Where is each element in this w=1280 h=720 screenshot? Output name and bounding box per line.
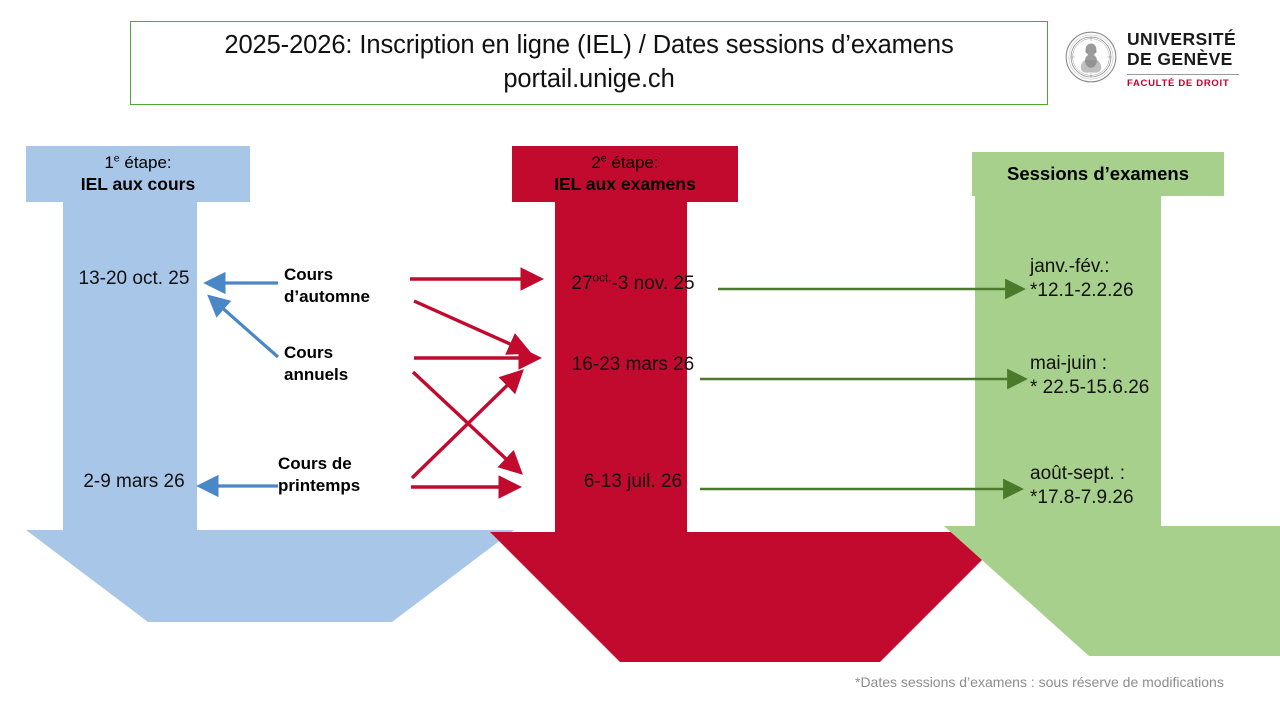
green-arrow-head [944, 526, 1280, 656]
red-date-2: 16-23 mars 26 [548, 353, 718, 377]
logo-wordmark: UNIVERSITÉ DE GENÈVE FACULTÉ DE DROIT [1127, 27, 1239, 89]
slide-canvas: 2025-2026: Inscription en ligne (IEL) / … [0, 0, 1280, 720]
column-header-blue-step: 1e étape: [104, 153, 171, 173]
footnote: *Dates sessions d’examens : sous réserve… [855, 674, 1224, 690]
column-header-red-step: 2e étape: [591, 153, 658, 173]
course-label-annual: Cours annuels [284, 342, 348, 386]
column-header-green-title: Sessions d’examens [1007, 163, 1189, 185]
green-date-1: janv.-fév.: *12.1-2.2.26 [1030, 255, 1220, 303]
column-header-red: 2e étape: IEL aux examens [512, 146, 738, 202]
red-arrow-head [490, 532, 1010, 662]
green-date-3: août-sept. : *17.8-7.9.26 [1030, 462, 1220, 510]
title-box: 2025-2026: Inscription en ligne (IEL) / … [130, 21, 1048, 105]
red-date-3: 6-13 juil. 26 [548, 470, 718, 494]
logo-divider [1127, 74, 1239, 76]
logo-line-2: DE GENÈVE [1127, 50, 1239, 70]
column-header-red-title: IEL aux examens [554, 174, 696, 195]
unige-logo: UNIVERSITÉ DE GENÈVE FACULTÉ DE DROIT [1064, 27, 1242, 105]
blue-date-2: 2-9 mars 26 [58, 470, 210, 494]
red-stage-arrow [490, 202, 750, 662]
blue-arrow-head [26, 530, 514, 622]
course-label-spring: Cours de printemps [278, 453, 360, 497]
logo-line-1: UNIVERSITÉ [1127, 30, 1239, 50]
column-header-green: Sessions d’examens [972, 152, 1224, 196]
blue-stage-arrow [26, 202, 270, 622]
column-header-blue: 1e étape: IEL aux cours [26, 146, 250, 202]
course-label-autumn: Cours d’automne [284, 264, 370, 308]
unige-seal-icon [1064, 30, 1118, 84]
page-title: 2025-2026: Inscription en ligne (IEL) / … [224, 29, 953, 96]
logo-faculty-label: FACULTÉ DE DROIT [1127, 78, 1239, 89]
blue-date-1: 13-20 oct. 25 [58, 267, 210, 291]
column-header-blue-title: IEL aux cours [81, 174, 195, 195]
red-date-1: 27oct.-3 nov. 25 [548, 272, 718, 296]
green-date-2: mai-juin : * 22.5-15.6.26 [1030, 352, 1225, 400]
